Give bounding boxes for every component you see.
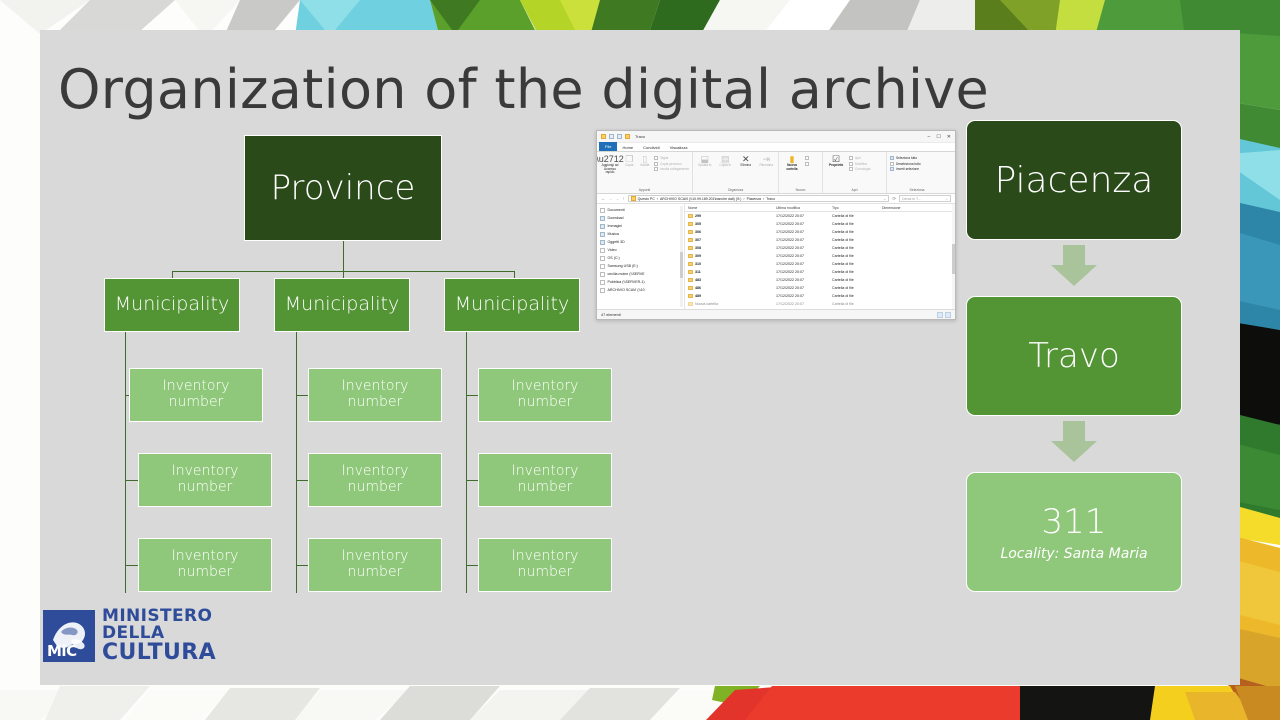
row-modified-5: 17/12/2022 20:07 xyxy=(773,254,829,258)
edit-label: Modifica xyxy=(855,162,867,166)
file-explorer-window[interactable]: Travo – ☐ ✕ File Home Condividi Visualiz… xyxy=(596,130,956,320)
chain-node-piacenza[interactable]: Piacenza xyxy=(966,120,1182,240)
node-inventory-1-2-line1: Inventory xyxy=(172,463,239,479)
open-button[interactable]: Apri xyxy=(849,156,870,160)
seleziona-small-buttons: Seleziona tutto Deseleziona tutto Invert… xyxy=(890,154,921,171)
copy-button[interactable]: ❐ Copia xyxy=(623,154,635,168)
mic-logo: MiC MINISTERO DELLA CULTURA xyxy=(43,608,216,664)
node-inventory-1-3[interactable]: Inventorynumber xyxy=(138,538,272,592)
ribbon-group-nuovo-label: Nuovo xyxy=(779,188,822,192)
nav-label-pubblica: Pubblica (\\SERVER-1) xyxy=(608,280,645,284)
properties-label: Proprietà xyxy=(829,164,843,168)
row-modified-11: 17/12/2022 20:07 xyxy=(773,302,829,306)
connector-root-down xyxy=(343,241,344,271)
nav-item-immagini[interactable]: Immagini xyxy=(600,222,684,230)
row-modified-8: 17/12/2022 20:07 xyxy=(773,278,829,282)
node-inventory-3-3[interactable]: Inventorynumber xyxy=(478,538,612,592)
video-icon xyxy=(600,248,605,253)
cube-icon xyxy=(600,240,605,245)
invert-selection-label: Inverti selezione xyxy=(896,167,919,171)
table-row[interactable]: 30617/12/2022 20:07Cartella di file xyxy=(685,228,955,236)
open-label: Apri xyxy=(855,156,861,160)
select-all-label: Seleziona tutto xyxy=(896,156,917,160)
folder-icon xyxy=(688,230,693,234)
easy-access-icon xyxy=(805,162,809,166)
row-type-4: Cartella di file xyxy=(829,246,879,250)
ribbon-group-organizza: ⬓ Sposta in ▤ Copia in ✕ Elimina ⇥ Rinom… xyxy=(693,152,779,193)
folder-icon[interactable] xyxy=(601,134,606,139)
explorer-ribbon[interactable]: \u2712 Aggiungi ad Accesso rapido ❐ Copi… xyxy=(597,152,955,194)
file-list-header: Nome Ultima modifica Tipo Dimensione xyxy=(685,204,955,212)
minimize-icon[interactable]: – xyxy=(928,134,931,140)
table-row[interactable]: 29917/12/2022 20:07Cartella di file xyxy=(685,212,955,220)
deselect-all-icon xyxy=(890,162,894,166)
ribbon-group-apri-label: Apri xyxy=(823,188,886,192)
folder-icon xyxy=(688,294,693,298)
column-header-ultima-modifica[interactable]: Ultima modifica xyxy=(773,206,829,210)
table-row[interactable]: 30917/12/2022 20:07Cartella di file xyxy=(685,252,955,260)
ribbon-group-nuovo: ▮ Nuova cartella Nuovo xyxy=(779,152,823,193)
folder-icon xyxy=(688,302,693,306)
row-type-8: Cartella di file xyxy=(829,278,879,282)
node-inventory-2-2-line1: Inventory xyxy=(342,463,409,479)
table-row[interactable]: 31017/12/2022 20:07Cartella di file xyxy=(685,260,955,268)
row-name-3: 307 xyxy=(695,238,701,242)
chain-arrow-1 xyxy=(1050,245,1098,287)
new-folder-button[interactable]: ▮ Nuova cartella xyxy=(782,154,802,171)
node-inventory-2-3-line2: number xyxy=(348,564,403,580)
explorer-navigation-pane[interactable]: Documenti Download Immagini Musica Ogget… xyxy=(597,204,685,309)
node-inventory-3-1-line1: Inventory xyxy=(512,378,579,394)
mic-logo-wordmark: MINISTERO DELLA CULTURA xyxy=(102,608,216,664)
maximize-icon[interactable]: ☐ xyxy=(936,134,940,140)
file-list-scrollbar-thumb[interactable] xyxy=(952,244,956,274)
nav-item-video[interactable]: Video xyxy=(600,246,684,254)
move-to-button[interactable]: ⬓ Sposta in xyxy=(696,154,714,168)
pin-to-quick-access-button[interactable]: \u2712 Aggiungi ad Accesso rapido xyxy=(600,154,620,175)
table-row[interactable]: 30817/12/2022 20:07Cartella di file xyxy=(685,244,955,252)
node-inventory-1-1-line2: number xyxy=(169,394,224,410)
edit-button[interactable]: Modifica xyxy=(849,162,870,166)
explorer-ribbon-tabs[interactable]: File Home Condividi Visualizza xyxy=(597,143,955,152)
node-inventory-2-1-line1: Inventory xyxy=(342,378,409,394)
row-name-8: 483 xyxy=(695,278,701,282)
search-input[interactable]: Cerca in T... ⌕ xyxy=(899,195,951,202)
new-item-button[interactable] xyxy=(805,156,809,160)
node-inventory-1-3-line1: Inventory xyxy=(172,548,239,564)
row-modified-1: 17/12/2022 20:07 xyxy=(773,222,829,226)
nav-label-download: Download xyxy=(608,216,624,220)
node-inventory-2-3[interactable]: Inventorynumber xyxy=(308,538,442,592)
properties-button[interactable]: ☑ Proprietà xyxy=(826,154,846,168)
view-mode-buttons[interactable] xyxy=(937,312,951,318)
chain-node-piacenza-label: Piacenza xyxy=(995,160,1154,201)
tab-visualizza[interactable]: Visualizza xyxy=(665,144,693,151)
folder-icon xyxy=(688,246,693,250)
explorer-window-title: Travo xyxy=(635,134,645,139)
connector-sub-spine-3 xyxy=(466,332,467,593)
row-modified-10: 17/12/2022 20:07 xyxy=(773,294,829,298)
ribbon-group-seleziona: Seleziona tutto Deseleziona tutto Invert… xyxy=(887,152,947,193)
image-icon xyxy=(600,224,605,229)
paste-label: Incolla xyxy=(640,164,649,168)
select-all-icon xyxy=(890,156,894,160)
node-inventory-3-2-line2: number xyxy=(518,479,573,495)
chain-node-inventory[interactable]: 311 Locality: Santa Maria xyxy=(966,472,1182,592)
mic-logo-line3: CULTURA xyxy=(102,642,216,664)
row-modified-3: 17/12/2022 20:07 xyxy=(773,238,829,242)
nav-item-os-c[interactable]: OS (C:) xyxy=(600,254,684,262)
nuovo-extra xyxy=(805,154,809,166)
row-modified-7: 17/12/2022 20:07 xyxy=(773,270,829,274)
edit-icon xyxy=(849,162,853,166)
ribbon-group-apri: ☑ Proprietà Apri Modifica Cronologia Apr… xyxy=(823,152,887,193)
row-type-7: Cartella di file xyxy=(829,270,879,274)
node-inventory-2-3-line1: Inventory xyxy=(342,548,409,564)
history-label: Cronologia xyxy=(855,167,870,171)
explorer-file-list[interactable]: Nome Ultima modifica Tipo Dimensione 299… xyxy=(685,204,955,309)
copy-path-label: Copia percorso xyxy=(660,162,682,166)
row-name-0: 299 xyxy=(695,214,701,218)
row-type-1: Cartella di file xyxy=(829,222,879,226)
connector-sub-spine-2 xyxy=(296,332,297,593)
move-to-label: Sposta in xyxy=(698,164,711,168)
node-inventory-1-2[interactable]: Inventorynumber xyxy=(138,453,272,507)
path-sep-0: › xyxy=(657,197,658,201)
node-inventory-2-1[interactable]: Inventorynumber xyxy=(308,368,442,422)
easy-access-button[interactable] xyxy=(805,162,809,166)
back-icon[interactable]: ← xyxy=(601,196,605,201)
node-municipality-3[interactable]: Municipality xyxy=(444,278,580,332)
row-name-5: 309 xyxy=(695,254,701,258)
column-header-tipo[interactable]: Tipo xyxy=(829,206,879,210)
folder-icon xyxy=(688,270,693,274)
mic-logo-mark: MiC xyxy=(43,610,95,662)
row-type-10: Cartella di file xyxy=(829,294,879,298)
copy-to-label: Copia in xyxy=(719,164,731,168)
row-type-9: Cartella di file xyxy=(829,286,879,290)
row-type-0: Cartella di file xyxy=(829,214,879,218)
table-row[interactable]: 48917/12/2022 20:07Cartella di file xyxy=(685,292,955,300)
nav-label-immagini: Immagini xyxy=(608,224,623,228)
nav-label-samsung-usb: Samsung USB (E:) xyxy=(608,264,638,268)
copy-to-button[interactable]: ▤ Copia in xyxy=(717,154,735,168)
nav-label-cecilia-moine: cecilia.moine (\\SERVE xyxy=(608,272,645,276)
row-modified-9: 17/12/2022 20:07 xyxy=(773,286,829,290)
drive-icon xyxy=(600,256,605,261)
path-sep-1: › xyxy=(743,197,744,201)
tab-file[interactable]: File xyxy=(599,142,617,151)
node-inventory-3-3-line1: Inventory xyxy=(512,548,579,564)
rename-button[interactable]: ⇥ Rinomina xyxy=(758,154,776,168)
paste-shortcut-button[interactable]: Incolla collegamento xyxy=(654,167,689,171)
address-path-box[interactable]: Questo PC› ARCHIVIO SCAVI (\\10.99.189.2… xyxy=(628,195,890,202)
folder-icon xyxy=(688,286,693,290)
table-row[interactable]: 31117/12/2022 20:07Cartella di file xyxy=(685,268,955,276)
explorer-status-bar: 47 elementi xyxy=(597,309,955,320)
table-row[interactable]: Nuova cartella17/12/2022 20:07Cartella d… xyxy=(685,300,955,308)
node-inventory-2-2-line2: number xyxy=(348,479,403,495)
ribbon-group-appunti-label: Appunti xyxy=(597,188,692,192)
copy-path-icon xyxy=(654,162,658,166)
node-inventory-2-1-line2: number xyxy=(348,394,403,410)
path-sep-2: › xyxy=(763,197,764,201)
row-name-11: Nuova cartella xyxy=(695,302,718,306)
row-type-3: Cartella di file xyxy=(829,238,879,242)
nav-label-os-c: OS (C:) xyxy=(608,256,620,260)
node-inventory-2-2[interactable]: Inventorynumber xyxy=(308,453,442,507)
node-municipality-2-label: Municipality xyxy=(285,294,399,315)
nav-label-video: Video xyxy=(608,248,617,252)
row-modified-6: 17/12/2022 20:07 xyxy=(773,262,829,266)
folder-icon xyxy=(688,214,693,218)
row-name-1: 305 xyxy=(695,222,701,226)
nav-item-archivio-scavi[interactable]: ARCHIVIO SCAVI (\\10 xyxy=(600,286,684,294)
explorer-title-bar[interactable]: Travo – ☐ ✕ xyxy=(597,131,955,143)
node-inventory-3-1[interactable]: Inventorynumber xyxy=(478,368,612,422)
nav-scrollbar-thumb[interactable] xyxy=(680,252,683,278)
path-segment-3[interactable]: Travo xyxy=(766,197,775,201)
chain-node-travo-label: Travo xyxy=(1028,336,1120,376)
column-header-nome[interactable]: Nome xyxy=(685,206,773,210)
explorer-body: Documenti Download Immagini Musica Ogget… xyxy=(597,204,955,309)
node-inventory-1-2-line2: number xyxy=(178,479,233,495)
row-type-6: Cartella di file xyxy=(829,262,879,266)
status-item-count: 47 elementi xyxy=(601,313,621,317)
path-segment-1[interactable]: ARCHIVIO SCAVI (\\10.99.189.201\banche d… xyxy=(660,197,741,201)
column-header-dimensione[interactable]: Dimensione xyxy=(879,206,929,210)
search-icon: ⌕ xyxy=(946,197,948,201)
copy-path-button[interactable]: Copia percorso xyxy=(654,162,689,166)
usb-icon xyxy=(600,264,605,269)
nav-label-musica: Musica xyxy=(608,232,619,236)
row-modified-2: 17/12/2022 20:07 xyxy=(773,230,829,234)
path-segment-0[interactable]: Questo PC xyxy=(638,197,655,201)
save-icon[interactable] xyxy=(609,134,614,139)
row-type-11: Cartella di file xyxy=(829,302,879,306)
search-placeholder: Cerca in T... xyxy=(902,197,921,201)
paste-shortcut-label: Incolla collegamento xyxy=(660,167,689,171)
folder-icon xyxy=(688,278,693,282)
network-drive-icon xyxy=(600,272,605,277)
row-type-5: Cartella di file xyxy=(829,254,879,258)
row-modified-0: 17/12/2022 20:07 xyxy=(773,214,829,218)
table-row[interactable]: 48317/12/2022 20:07Cartella di file xyxy=(685,276,955,284)
tab-home[interactable]: Home xyxy=(617,144,638,151)
row-name-10: 489 xyxy=(695,294,701,298)
undo-icon[interactable] xyxy=(617,134,622,139)
apri-small-buttons: Apri Modifica Cronologia xyxy=(849,154,870,171)
row-modified-4: 17/12/2022 20:07 xyxy=(773,246,829,250)
path-dropdown-icon[interactable]: ⌄ xyxy=(883,197,886,201)
table-row[interactable]: 30517/12/2022 20:07Cartella di file xyxy=(685,220,955,228)
cut-button[interactable]: Taglia xyxy=(654,156,689,160)
ribbon-group-organizza-label: Organizza xyxy=(693,188,778,192)
folder-icon xyxy=(688,262,693,266)
nav-item-download[interactable]: Download xyxy=(600,214,684,222)
forward-icon[interactable]: → xyxy=(608,196,612,201)
connector-sub-spine-1 xyxy=(125,332,126,593)
deselect-all-button[interactable]: Deseleziona tutto xyxy=(890,162,921,166)
node-inventory-3-2-line1: Inventory xyxy=(512,463,579,479)
network-drive-icon-3 xyxy=(600,288,605,293)
nav-item-pubblica[interactable]: Pubblica (\\SERVER-1) xyxy=(600,278,684,286)
delete-button[interactable]: ✕ Elimina xyxy=(737,154,755,168)
document-icon xyxy=(600,208,605,213)
appunti-small-buttons: Taglia Copia percorso Incolla collegamen… xyxy=(654,154,689,171)
node-inventory-3-2[interactable]: Inventorynumber xyxy=(478,453,612,507)
ribbon-group-seleziona-label: Seleziona xyxy=(887,188,947,192)
explorer-address-bar[interactable]: ← → ⌄ ↑ Questo PC› ARCHIVIO SCAVI (\\10.… xyxy=(597,194,955,204)
node-municipality-2[interactable]: Municipality xyxy=(274,278,410,332)
node-inventory-1-3-line2: number xyxy=(178,564,233,580)
music-icon xyxy=(600,232,605,237)
invert-selection-icon xyxy=(890,167,894,171)
history-button[interactable]: Cronologia xyxy=(849,167,870,171)
deselect-all-label: Deseleziona tutto xyxy=(896,162,921,166)
paste-button[interactable]: ▯ Incolla xyxy=(638,154,650,168)
nav-label-oggetti-3d: Oggetti 3D xyxy=(608,240,625,244)
folder-icon xyxy=(688,238,693,242)
node-municipality-1-label: Municipality xyxy=(115,294,229,315)
delete-label: Elimina xyxy=(741,164,751,168)
chain-node-travo[interactable]: Travo xyxy=(966,296,1182,416)
rename-label: Rinomina xyxy=(760,164,773,168)
history-icon xyxy=(849,167,853,171)
row-type-2: Cartella di file xyxy=(829,230,879,234)
node-inventory-1-1[interactable]: Inventorynumber xyxy=(129,368,263,422)
row-name-2: 306 xyxy=(695,230,701,234)
node-municipality-1[interactable]: Municipality xyxy=(104,278,240,332)
folder-icon xyxy=(688,222,693,226)
window-controls[interactable]: – ☐ ✕ xyxy=(928,134,951,140)
up-icon[interactable]: ↑ xyxy=(622,196,624,201)
nav-label-archivio-scavi: ARCHIVIO SCAVI (\\10 xyxy=(608,288,645,292)
node-province[interactable]: Province xyxy=(244,135,442,241)
table-row[interactable]: 30717/12/2022 20:07Cartella di file xyxy=(685,236,955,244)
node-inventory-3-3-line2: number xyxy=(518,564,573,580)
row-name-7: 311 xyxy=(695,270,701,274)
chain-node-inventory-locality: Locality: Santa Maria xyxy=(1000,546,1147,562)
path-segment-2[interactable]: Piacenza xyxy=(747,197,761,201)
close-icon[interactable]: ✕ xyxy=(947,134,951,140)
node-municipality-3-label: Municipality xyxy=(455,294,569,315)
nav-item-cecilia-moine[interactable]: cecilia.moine (\\SERVE xyxy=(600,270,684,278)
nav-item-samsung-usb[interactable]: Samsung USB (E:) xyxy=(600,262,684,270)
cut-label: Taglia xyxy=(660,156,668,160)
nav-item-oggetti-3d[interactable]: Oggetti 3D xyxy=(600,238,684,246)
row-name-6: 310 xyxy=(695,262,701,266)
mic-logo-text: MiC xyxy=(47,642,77,660)
path-folder-icon xyxy=(631,196,636,201)
new-item-icon xyxy=(805,156,809,160)
nav-label-documenti: Documenti xyxy=(608,208,625,212)
select-all-button[interactable]: Seleziona tutto xyxy=(890,156,921,160)
node-inventory-1-1-line1: Inventory xyxy=(163,378,230,394)
paste-shortcut-icon xyxy=(654,167,658,171)
ribbon-group-appunti: \u2712 Aggiungi ad Accesso rapido ❐ Copi… xyxy=(597,152,693,193)
download-icon xyxy=(600,216,605,221)
details-view-icon[interactable] xyxy=(937,312,943,318)
network-drive-icon-2 xyxy=(600,280,605,285)
node-inventory-3-1-line2: number xyxy=(518,394,573,410)
new-folder-label: Nuova cartella xyxy=(782,164,802,171)
open-icon xyxy=(849,156,853,160)
table-row[interactable]: 48617/12/2022 20:07Cartella di file xyxy=(685,284,955,292)
folder-icon xyxy=(688,254,693,258)
refresh-icon[interactable]: ⟳ xyxy=(892,196,896,202)
tab-condividi[interactable]: Condividi xyxy=(638,144,664,151)
chain-arrow-2 xyxy=(1050,421,1098,463)
row-name-9: 486 xyxy=(695,286,701,290)
properties-icon[interactable] xyxy=(625,134,630,139)
scissors-icon xyxy=(654,156,658,160)
row-name-4: 308 xyxy=(695,246,701,250)
pin-to-quick-access-label: Aggiungi ad Accesso rapido xyxy=(600,164,620,175)
invert-selection-button[interactable]: Inverti selezione xyxy=(890,167,921,171)
large-icons-view-icon[interactable] xyxy=(945,312,951,318)
nav-item-musica[interactable]: Musica xyxy=(600,230,684,238)
chain-node-inventory-number: 311 xyxy=(1042,502,1107,542)
recent-locations-icon[interactable]: ⌄ xyxy=(616,196,620,202)
nav-item-documenti[interactable]: Documenti xyxy=(600,206,684,214)
copy-label: Copia xyxy=(625,164,633,168)
slide-canvas: Organization of the digital archive Prov… xyxy=(40,30,1240,685)
node-province-label: Province xyxy=(271,169,416,207)
